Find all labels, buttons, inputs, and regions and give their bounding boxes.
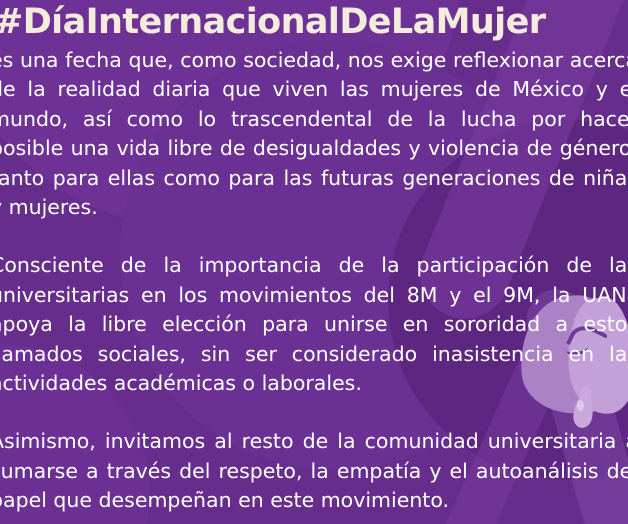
poster-content: #DíaInternacionalDeLaMujer es una fecha … <box>0 0 628 524</box>
social-media-poster: #DíaInternacionalDeLaMujer es una fecha … <box>0 0 628 524</box>
page-title: #DíaInternacionalDeLaMujer <box>0 2 628 42</box>
poster-body: es una fecha que, como sociedad, nos exi… <box>0 46 628 516</box>
paragraph-1: es una fecha que, como sociedad, nos exi… <box>0 46 628 222</box>
paragraph-3: Asimismo, invitamos al resto de la comun… <box>0 427 628 515</box>
paragraph-2: Consciente de la importancia de la parti… <box>0 251 628 398</box>
